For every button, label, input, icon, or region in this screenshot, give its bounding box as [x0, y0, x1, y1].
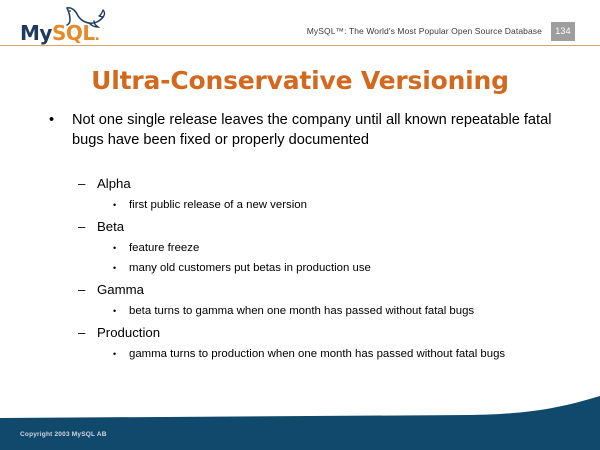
list-item-detail: • first public release of a new version — [0, 195, 600, 215]
bullet-marker: • — [113, 344, 116, 364]
header-tagline: MySQL™: The World's Most Popular Open So… — [307, 26, 542, 36]
bullet-marker: • — [113, 301, 116, 321]
logo-text-sql: SQL — [52, 21, 95, 45]
stage-label-beta: Beta — [97, 219, 124, 234]
dash-marker: – — [78, 215, 85, 238]
slide: MySQL. MySQL™: The World's Most Popular … — [0, 0, 600, 450]
detail-text: beta turns to gamma when one month has p… — [129, 305, 474, 317]
logo-text-my: My — [20, 21, 52, 45]
bullet-intro: • Not one single release leaves the comp… — [0, 110, 600, 150]
bullet-marker: • — [113, 238, 116, 258]
stage-label-alpha: Alpha — [97, 176, 131, 191]
stage-label-production: Production — [97, 325, 160, 340]
slide-body: • Not one single release leaves the comp… — [0, 110, 600, 364]
footer-swoosh — [0, 390, 600, 450]
detail-text: first public release of a new version — [129, 199, 307, 211]
spacer — [0, 150, 600, 172]
list-item-detail: • feature freeze — [0, 238, 600, 258]
copyright-text: Copyright 2003 MySQL AB — [20, 431, 107, 438]
list-item-detail: • many old customers put betas in produc… — [0, 258, 600, 278]
dash-marker: – — [78, 278, 85, 301]
page-title: Ultra-Conservative Versioning — [0, 66, 600, 95]
list-item-stage-beta: – Beta — [0, 215, 600, 238]
list-item-stage-alpha: – Alpha — [0, 172, 600, 195]
slide-header: MySQL. MySQL™: The World's Most Popular … — [0, 0, 600, 46]
detail-text: gamma turns to production when one month… — [129, 348, 505, 360]
mysql-wordmark: MySQL. — [20, 23, 99, 46]
detail-text: many old customers put betas in producti… — [129, 262, 371, 274]
dash-marker: – — [78, 321, 85, 344]
page-number-badge: 134 — [551, 22, 575, 41]
mysql-logo: MySQL. — [20, 6, 116, 44]
detail-text: feature freeze — [129, 242, 199, 254]
list-item-stage-production: – Production — [0, 321, 600, 344]
list-item-detail: • beta turns to gamma when one month has… — [0, 301, 600, 321]
dash-marker: – — [78, 172, 85, 195]
bullet-intro-text: Not one single release leaves the compan… — [72, 112, 551, 148]
bullet-marker: • — [49, 110, 54, 130]
list-item-detail: • gamma turns to production when one mon… — [0, 344, 600, 364]
bullet-marker: • — [113, 258, 116, 278]
stage-label-gamma: Gamma — [97, 282, 144, 297]
list-item-stage-gamma: – Gamma — [0, 278, 600, 301]
slide-footer — [0, 390, 600, 450]
logo-text-dot: . — [95, 28, 100, 44]
bullet-marker: • — [113, 195, 116, 215]
header-divider — [0, 45, 600, 46]
